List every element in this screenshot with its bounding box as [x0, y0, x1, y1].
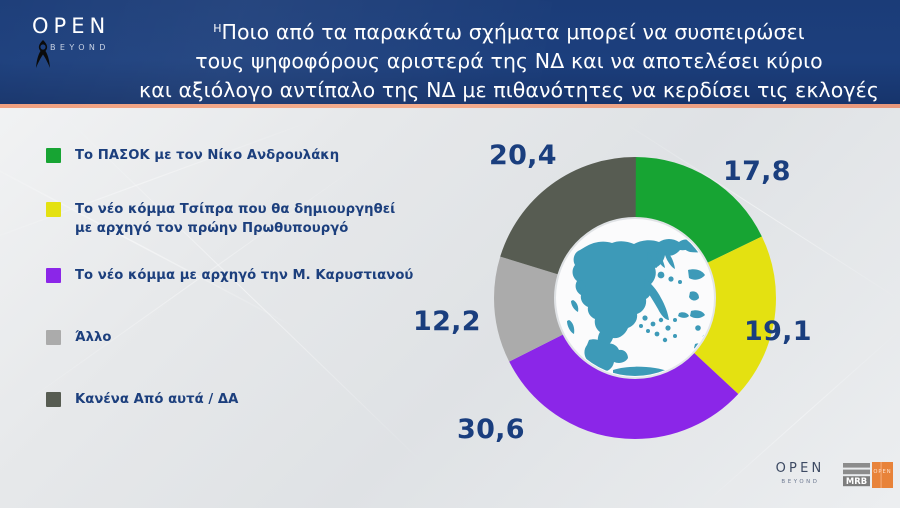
value-label-purple: 30,6	[457, 414, 525, 445]
footer-beyond-text: BEYOND	[768, 479, 830, 485]
donut-chart-svg	[485, 148, 785, 448]
open-beyond-logo: OPEN BEYOND	[30, 16, 138, 72]
legend-item-other: Άλλο	[46, 328, 111, 347]
value-label-lightgray: 12,2	[413, 306, 481, 337]
legend-label-tsipras: Το νέο κόμμα Τσίπρα που θα δημιουργηθεί …	[75, 200, 395, 238]
brand-open-text: OPEN	[30, 16, 138, 37]
value-label-darkgray: 20,4	[489, 140, 557, 171]
legend-swatch-green	[46, 148, 61, 163]
legend-swatch-darkgray	[46, 392, 61, 407]
legend-item-tsipras: Το νέο κόμμα Τσίπρα που θα δημιουργηθεί …	[46, 200, 395, 238]
mrb-text: MRB	[846, 476, 867, 486]
headline-question: ΗΠοιο από τα παρακάτω σχήματα μπορεί να …	[128, 14, 890, 105]
header-banner: OPEN BEYOND ΗΠοιο από τα παρακάτω σχήματ…	[0, 0, 900, 108]
legend-swatch-yellow	[46, 202, 61, 217]
headline-line-3: και αξιόλογο αντίπαλο της ΝΔ με πιθανότη…	[128, 76, 890, 105]
legend-label-other: Άλλο	[75, 328, 111, 347]
footer-open-beyond-logo: OPEN BEYOND	[768, 462, 830, 485]
legend-swatch-purple	[46, 268, 61, 283]
legend-item-karystianou: Το νέο κόμμα με αρχηγό την Μ. Καρυστιανο…	[46, 266, 413, 285]
headline-line-2: τους ψηφοφόρους αριστερά της ΝΔ και να α…	[128, 47, 890, 76]
headline-line-1: Ποιο από τα παρακάτω σχήματα μπορεί να σ…	[221, 20, 804, 44]
footer-open-text: OPEN	[768, 462, 830, 475]
legend-item-pasok: Το ΠΑΣΟΚ με τον Νίκο Ανδρουλάκη	[46, 146, 339, 165]
mourning-ribbon-icon	[34, 36, 52, 70]
legend-swatch-lightgray	[46, 330, 61, 345]
value-label-green: 17,8	[723, 156, 791, 187]
legend-label-pasok: Το ΠΑΣΟΚ με τον Νίκο Ανδρουλάκη	[75, 146, 339, 165]
mrb-logo: MRB OPEN	[843, 460, 893, 496]
legend-item-none: Κανένα Από αυτά / ΔΑ	[46, 390, 238, 409]
poll-graphic-screen: OPEN BEYOND ΗΠοιο από τα παρακάτω σχήματ…	[0, 0, 900, 508]
value-label-yellow: 19,1	[744, 316, 812, 347]
mrb-open-text: OPEN	[873, 469, 891, 475]
donut-chart: 17,8 19,1 30,6 12,2 20,4	[485, 148, 785, 448]
legend-label-karystianou: Το νέο κόμμα με αρχηγό την Μ. Καρυστιανο…	[75, 266, 413, 285]
legend-label-none: Κανένα Από αυτά / ΔΑ	[75, 390, 238, 409]
